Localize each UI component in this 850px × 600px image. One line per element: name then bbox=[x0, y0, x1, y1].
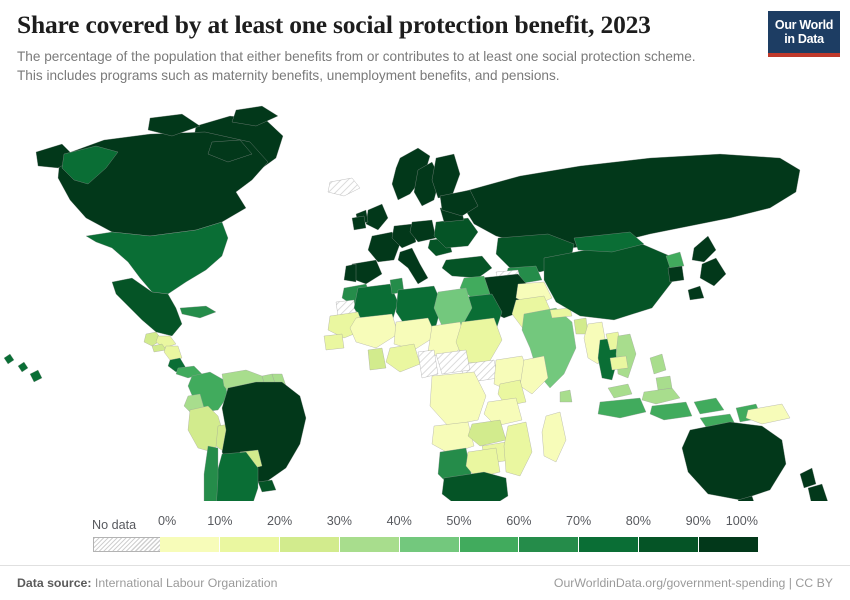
country-mali[interactable] bbox=[350, 314, 398, 348]
map-legend: No data 0%10%20%30%40%50%60%70%80%90%100… bbox=[0, 506, 850, 558]
legend-tick-80pct: 80% bbox=[626, 514, 651, 528]
country-united-states[interactable] bbox=[30, 370, 42, 382]
country-malaysia[interactable] bbox=[608, 384, 632, 398]
chart-header: Share covered by at least one social pro… bbox=[17, 10, 757, 85]
legend-color-bins[interactable] bbox=[160, 537, 758, 552]
legend-tick-labels: 0%10%20%30%40%50%60%70%80%90%100% bbox=[160, 514, 758, 534]
country-malaysia[interactable] bbox=[642, 388, 680, 404]
data-source: Data source: International Labour Organi… bbox=[17, 576, 277, 590]
country-philippines[interactable] bbox=[650, 354, 666, 374]
legend-tick-10pct: 10% bbox=[207, 514, 232, 528]
country-madagascar[interactable] bbox=[542, 412, 566, 462]
legend-bin-9[interactable] bbox=[699, 537, 758, 552]
country-nicaragua[interactable] bbox=[164, 346, 182, 360]
legend-bin-0[interactable] bbox=[160, 537, 220, 552]
legend-tick-40pct: 40% bbox=[387, 514, 412, 528]
legend-bin-5[interactable] bbox=[460, 537, 520, 552]
country-italy[interactable] bbox=[398, 248, 428, 284]
country-finland[interactable] bbox=[432, 154, 460, 198]
country-central-african-republic[interactable] bbox=[436, 350, 470, 374]
country-ireland[interactable] bbox=[352, 216, 366, 230]
country-angola[interactable] bbox=[432, 422, 474, 454]
legend-no-data-label: No data bbox=[92, 518, 136, 532]
owid-chart: Share covered by at least one social pro… bbox=[0, 0, 850, 600]
country-canada[interactable] bbox=[232, 106, 278, 126]
legend-tick-100pct: 100% bbox=[726, 514, 758, 528]
country-philippines[interactable] bbox=[656, 376, 672, 390]
legend-tick-20pct: 20% bbox=[267, 514, 292, 528]
world-choropleth-map[interactable] bbox=[0, 96, 850, 501]
legend-tick-60pct: 60% bbox=[506, 514, 531, 528]
country-japan[interactable] bbox=[700, 258, 726, 286]
owid-logo-line1: Our World bbox=[775, 18, 833, 32]
country-japan[interactable] bbox=[692, 236, 716, 262]
attribution-link[interactable]: OurWorldinData.org/government-spending |… bbox=[554, 576, 833, 590]
legend-bin-2[interactable] bbox=[280, 537, 340, 552]
country-somalia[interactable] bbox=[520, 356, 548, 394]
country-united-states[interactable] bbox=[18, 362, 28, 372]
country-uruguay[interactable] bbox=[258, 480, 276, 492]
legend-no-data-swatch[interactable] bbox=[93, 537, 163, 552]
country-indonesia[interactable] bbox=[650, 402, 692, 420]
legend-tick-50pct: 50% bbox=[446, 514, 471, 528]
legend-bin-7[interactable] bbox=[579, 537, 639, 552]
country-united-kingdom[interactable] bbox=[366, 204, 388, 230]
country-mozambique[interactable] bbox=[504, 422, 532, 476]
legend-bin-6[interactable] bbox=[519, 537, 579, 552]
country-united-states[interactable] bbox=[4, 354, 14, 364]
data-source-name: International Labour Organization bbox=[95, 576, 278, 590]
country-cambodia[interactable] bbox=[610, 356, 628, 370]
map-svg bbox=[0, 96, 850, 501]
country-iceland[interactable] bbox=[328, 178, 360, 196]
legend-tick-0pct: 0% bbox=[158, 514, 176, 528]
country-japan[interactable] bbox=[688, 286, 704, 300]
country-senegal[interactable] bbox=[324, 334, 344, 350]
country-indonesia[interactable] bbox=[598, 398, 646, 418]
country-nigeria[interactable] bbox=[386, 344, 420, 372]
country-ghana[interactable] bbox=[368, 348, 386, 370]
country-zambia[interactable] bbox=[468, 420, 506, 446]
legend-tick-30pct: 30% bbox=[327, 514, 352, 528]
country-sri-lanka[interactable] bbox=[560, 390, 572, 402]
country-new-zealand[interactable] bbox=[808, 484, 828, 501]
country-south-korea[interactable] bbox=[668, 266, 684, 282]
legend-bin-8[interactable] bbox=[639, 537, 699, 552]
legend-bin-3[interactable] bbox=[340, 537, 400, 552]
country-dr-congo[interactable] bbox=[430, 372, 486, 426]
country-chile[interactable] bbox=[202, 446, 218, 501]
data-source-label: Data source: bbox=[17, 576, 92, 590]
legend-tick-90pct: 90% bbox=[686, 514, 711, 528]
page-title: Share covered by at least one social pro… bbox=[17, 10, 757, 40]
owid-logo-line2: in Data bbox=[784, 32, 824, 46]
chart-footer: Data source: International Labour Organi… bbox=[0, 565, 850, 600]
country-cuba[interactable] bbox=[180, 306, 216, 318]
country-turkey[interactable] bbox=[442, 256, 492, 278]
country-new-zealand[interactable] bbox=[800, 468, 816, 488]
country-indonesia[interactable] bbox=[694, 398, 724, 414]
country-argentina[interactable] bbox=[214, 452, 258, 501]
legend-tick-70pct: 70% bbox=[566, 514, 591, 528]
country-portugal[interactable] bbox=[344, 264, 356, 282]
country-australia[interactable] bbox=[682, 422, 786, 500]
legend-bin-4[interactable] bbox=[400, 537, 460, 552]
owid-logo[interactable]: Our World in Data bbox=[768, 11, 840, 57]
chart-subtitle: The percentage of the population that ei… bbox=[17, 47, 717, 86]
legend-bin-1[interactable] bbox=[220, 537, 280, 552]
